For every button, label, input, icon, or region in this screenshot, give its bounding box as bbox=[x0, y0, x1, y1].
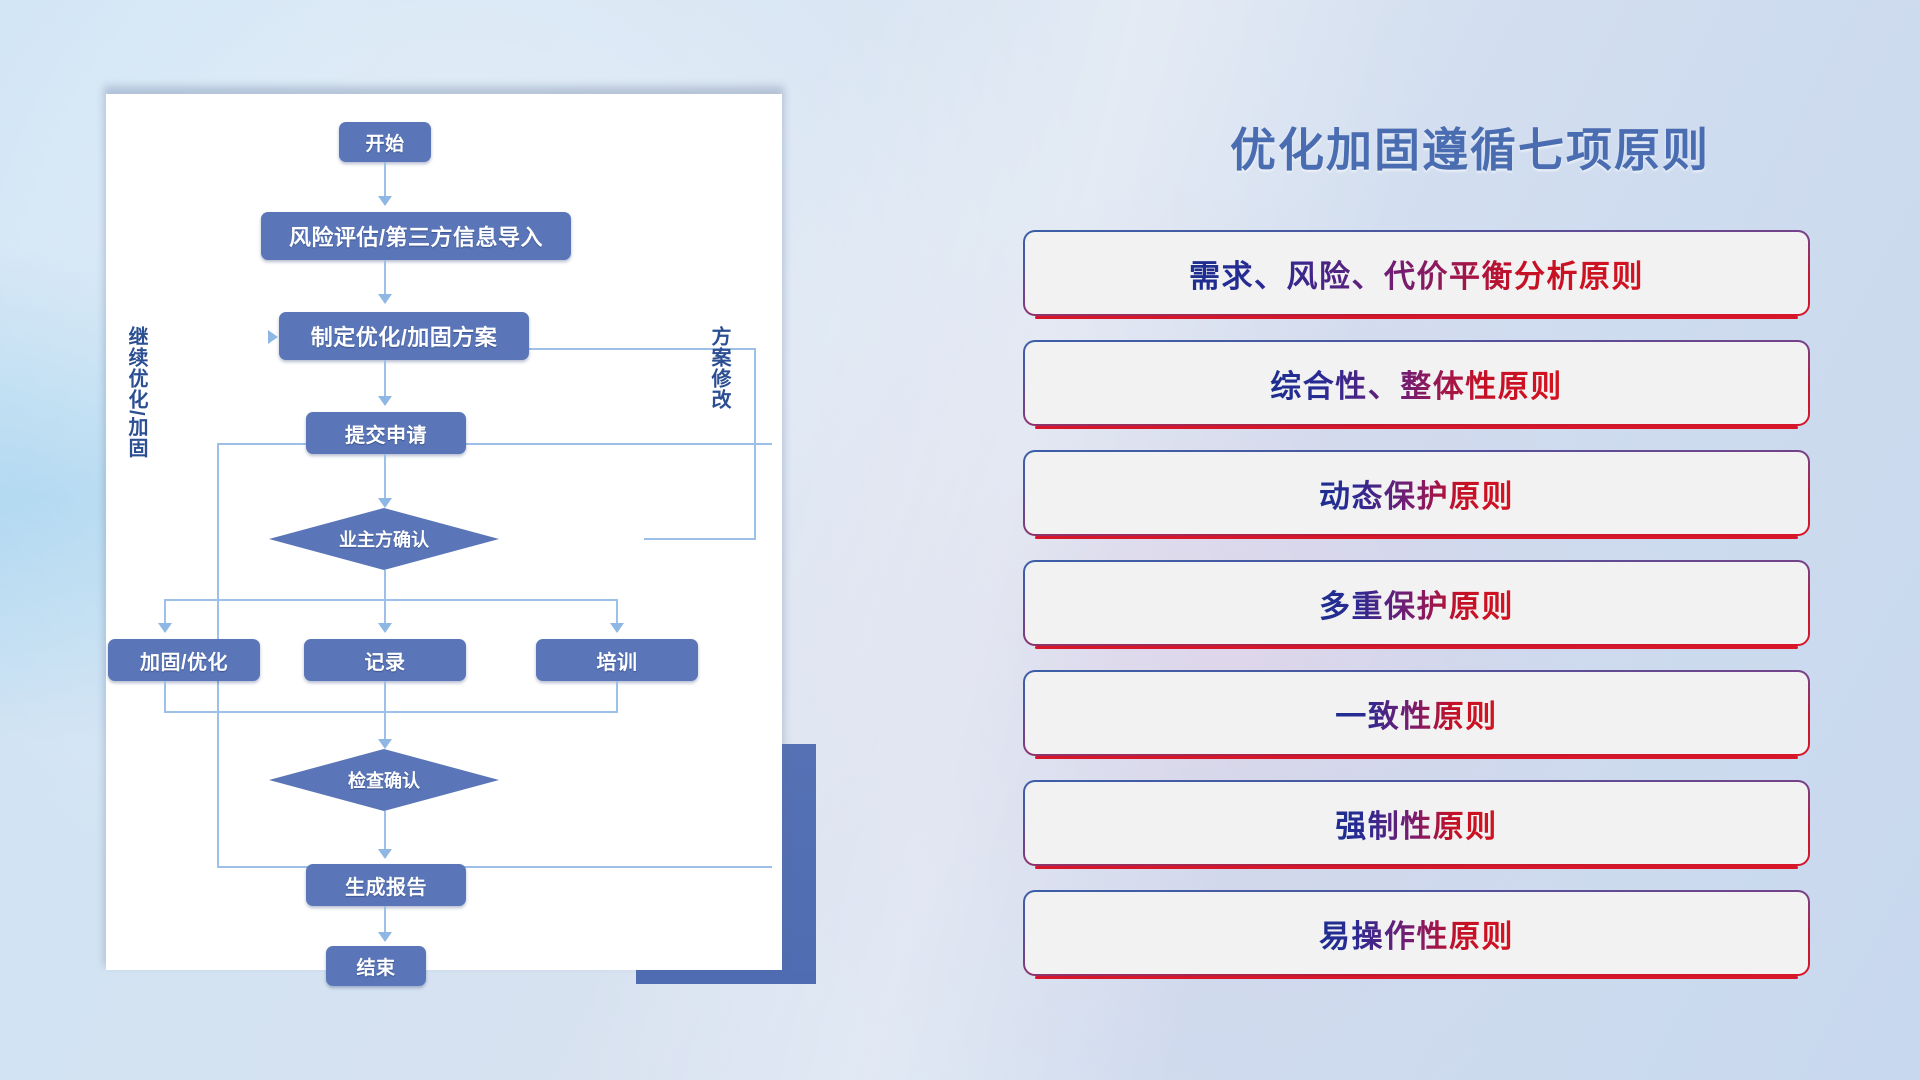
arrow-fanout-center bbox=[378, 623, 392, 633]
edge-risk-plan bbox=[384, 260, 386, 298]
node-owner-confirm-label: 业主方确认 bbox=[339, 526, 429, 552]
flowchart-panel: 开始 风险评估/第三方信息导入 制定优化/加固方案 提交申请 业主方确认 bbox=[106, 94, 782, 970]
edge-plan-submit bbox=[384, 360, 386, 400]
node-end[interactable]: 结束 bbox=[326, 946, 426, 986]
edge-fanin-stem bbox=[384, 681, 386, 743]
arrow-fanout-left bbox=[158, 623, 172, 633]
node-generate-report[interactable]: 生成报告 bbox=[306, 864, 466, 906]
principle-label: 多重保护原则 bbox=[1319, 581, 1514, 626]
edge-fanin-bar bbox=[164, 711, 616, 713]
principle-card[interactable]: 一致性原则 bbox=[1023, 670, 1810, 756]
arrow-submit-owner bbox=[378, 498, 392, 508]
edge-start-risk bbox=[384, 162, 386, 200]
node-training[interactable]: 培训 bbox=[536, 639, 698, 681]
arrow-risk-plan bbox=[378, 294, 392, 304]
edge-label-plan-revision: 方案修改 bbox=[707, 326, 730, 436]
node-start[interactable]: 开始 bbox=[339, 122, 431, 162]
principle-card[interactable]: 多重保护原则 bbox=[1023, 560, 1810, 646]
arrow-loop-left-into-plan bbox=[268, 330, 278, 344]
principle-label: 易操作性原则 bbox=[1319, 911, 1514, 956]
edge-owner-to-rightloop bbox=[644, 538, 756, 540]
arrow-fanout-right bbox=[610, 623, 624, 633]
node-start-label: 开始 bbox=[365, 129, 404, 156]
node-reinforce-optimize[interactable]: 加固/优化 bbox=[108, 639, 260, 681]
principle-label: 一致性原则 bbox=[1335, 691, 1498, 736]
principle-card[interactable]: 需求、风险、代价平衡分析原则 bbox=[1023, 230, 1810, 316]
edge-submit-owner bbox=[384, 454, 386, 502]
node-reinforce-optimize-label: 加固/优化 bbox=[140, 646, 228, 675]
node-record[interactable]: 记录 bbox=[304, 639, 466, 681]
node-submit-application-label: 提交申请 bbox=[345, 419, 427, 448]
arrow-start-risk bbox=[378, 196, 392, 206]
edge-fanin-left bbox=[164, 681, 166, 713]
node-record-label: 记录 bbox=[365, 646, 406, 675]
principles-list: 需求、风险、代价平衡分析原则 综合性、整体性原则 动态保护原则 多重保护原则 一… bbox=[1023, 230, 1810, 1000]
principle-label: 综合性、整体性原则 bbox=[1270, 361, 1563, 406]
node-submit-application[interactable]: 提交申请 bbox=[306, 412, 466, 454]
principle-card[interactable]: 强制性原则 bbox=[1023, 780, 1810, 866]
edge-check-report bbox=[384, 811, 386, 853]
arrow-plan-submit bbox=[378, 396, 392, 406]
arrow-check-report bbox=[378, 849, 392, 859]
arrow-into-check bbox=[378, 739, 392, 749]
edge-rightloop-vertical bbox=[754, 348, 756, 540]
principle-card[interactable]: 综合性、整体性原则 bbox=[1023, 340, 1810, 426]
principle-label: 强制性原则 bbox=[1335, 801, 1498, 846]
principle-card[interactable]: 易操作性原则 bbox=[1023, 890, 1810, 976]
node-training-label: 培训 bbox=[597, 646, 638, 675]
node-end-label: 结束 bbox=[356, 953, 395, 980]
node-risk-assessment[interactable]: 风险评估/第三方信息导入 bbox=[261, 212, 571, 260]
edge-label-continue-optimize: 继续优化/加固 bbox=[124, 326, 147, 466]
edge-fanin-right bbox=[616, 681, 618, 713]
edge-owner-fanout-bar bbox=[164, 599, 616, 601]
edge-owner-fanout-stem bbox=[384, 570, 386, 600]
principles-title: 优化加固遵循七项原则 bbox=[1150, 114, 1790, 180]
principle-label: 动态保护原则 bbox=[1319, 471, 1514, 516]
node-risk-assessment-label: 风险评估/第三方信息导入 bbox=[289, 220, 543, 252]
node-generate-report-label: 生成报告 bbox=[345, 871, 427, 900]
node-check-confirm-label: 检查确认 bbox=[348, 767, 420, 793]
arrow-report-end bbox=[378, 932, 392, 942]
principle-card[interactable]: 动态保护原则 bbox=[1023, 450, 1810, 536]
node-make-plan-label: 制定优化/加固方案 bbox=[311, 320, 498, 352]
node-make-plan[interactable]: 制定优化/加固方案 bbox=[279, 312, 529, 360]
principle-label: 需求、风险、代价平衡分析原则 bbox=[1189, 251, 1644, 296]
